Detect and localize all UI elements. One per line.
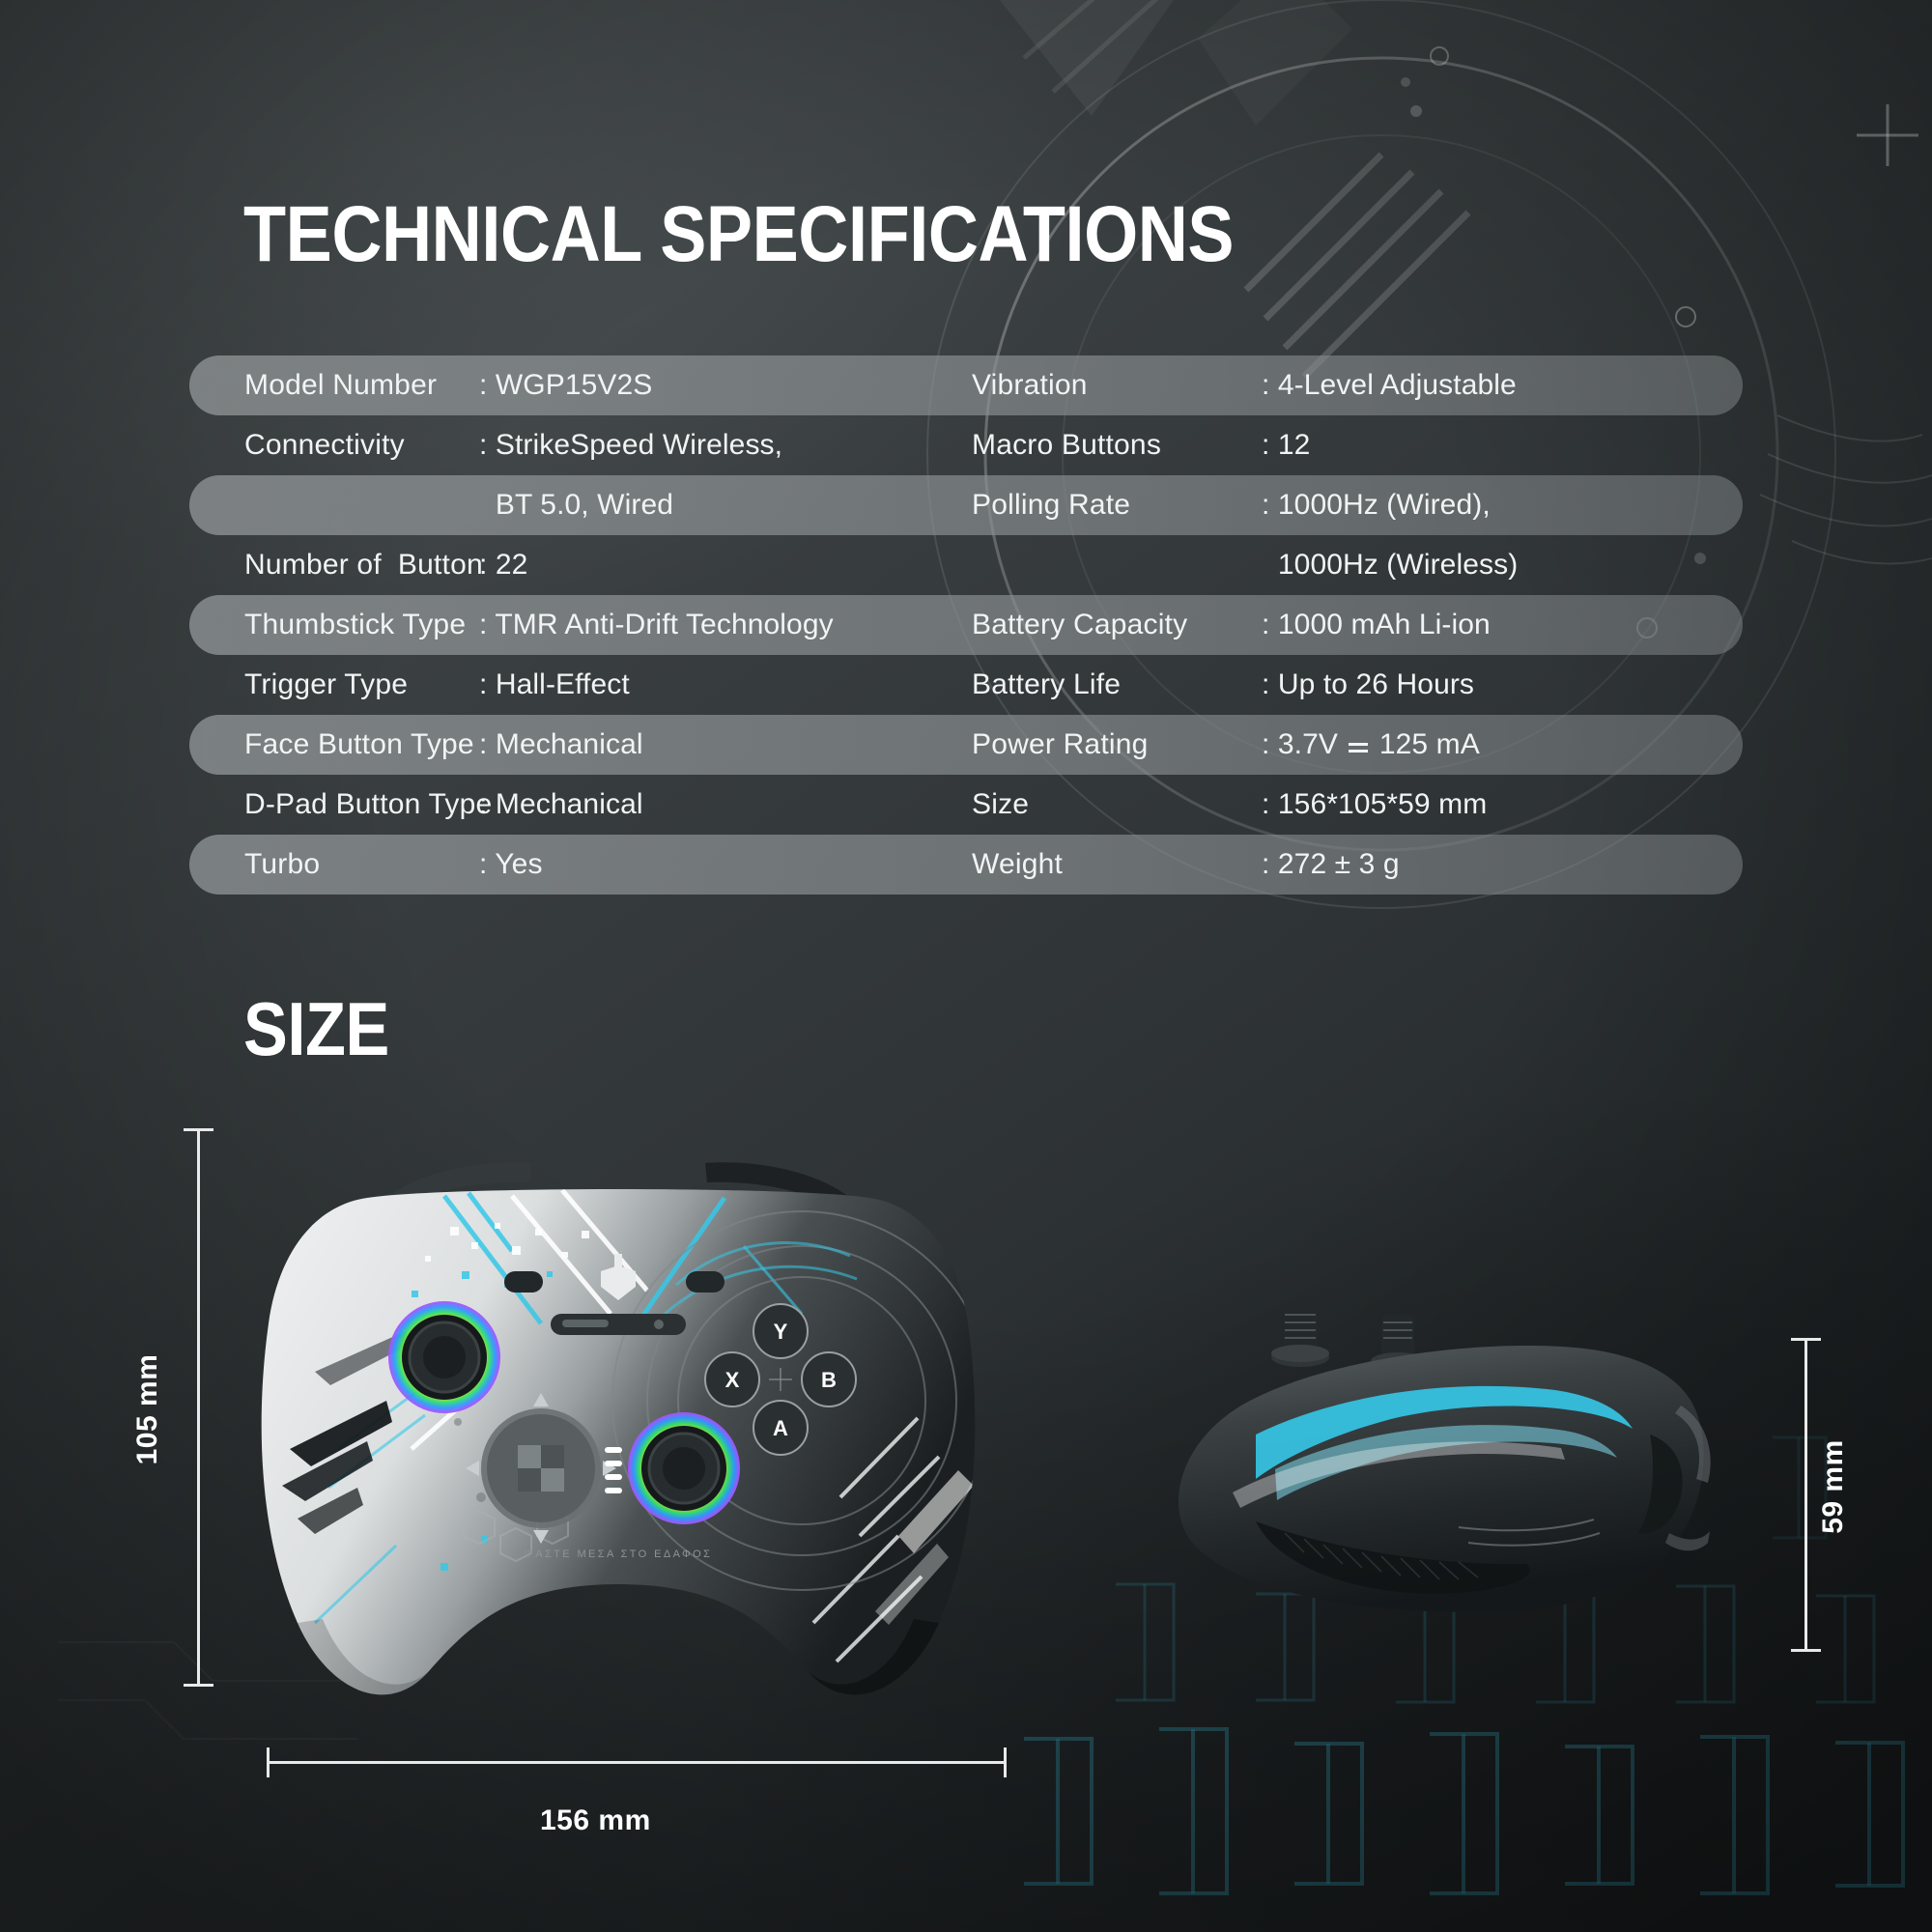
spec-value-right-text: : 1000Hz (Wired), xyxy=(1262,489,1491,522)
spec-label-left-text: Thumbstick Type xyxy=(244,609,466,641)
side-height-dimension-label: 59 mm xyxy=(1817,1429,1850,1545)
spec-label-right-text: Battery Capacity xyxy=(972,609,1187,641)
spec-label-left-text: Model Number xyxy=(244,369,437,402)
spec-value-left-text: BT 5.0, Wired xyxy=(479,489,673,522)
spec-label-right-text: Polling Rate xyxy=(972,489,1130,522)
table-row: Number of Button: 22 1000Hz (Wireless) xyxy=(189,535,1743,595)
spec-label-right-text: Macro Buttons xyxy=(972,429,1161,462)
spec-label-left-text: Turbo xyxy=(244,848,320,881)
spec-value-right-text-tail: 125 mA xyxy=(1371,728,1479,761)
height-dimension-line xyxy=(197,1128,200,1687)
side-height-dimension-line xyxy=(1804,1338,1807,1652)
spec-label-right: Weight xyxy=(972,835,1262,895)
spec-value-left: : StrikeSpeed Wireless, xyxy=(479,415,972,475)
spec-value-right: : 12 xyxy=(1262,415,1687,475)
table-row: Model Number: WGP15V2SVibration: 4-Level… xyxy=(189,355,1743,415)
svg-text:X: X xyxy=(725,1368,740,1392)
svg-text:A: A xyxy=(773,1416,788,1440)
spec-value-right-text: : 156*105*59 mm xyxy=(1262,788,1487,821)
table-row: Connectivity: StrikeSpeed Wireless,Macro… xyxy=(189,415,1743,475)
spec-label-left-text: Connectivity xyxy=(244,429,405,462)
specifications-table: Model Number: WGP15V2SVibration: 4-Level… xyxy=(189,355,1743,895)
spec-label-left: Number of Button xyxy=(189,535,479,595)
spec-value-left: : Hall-Effect xyxy=(479,655,972,715)
spec-label-left: Face Button Type xyxy=(189,715,479,775)
spec-value-right-text: : 12 xyxy=(1262,429,1310,462)
spec-label-right-text: Weight xyxy=(972,848,1063,881)
spec-value-right-text: : 3.7V xyxy=(1262,728,1346,761)
spec-value-right-text: : Up to 26 Hours xyxy=(1262,668,1474,701)
spec-label-left: Thumbstick Type xyxy=(189,595,479,655)
spec-label-left-text: Face Button Type xyxy=(244,728,474,761)
dc-power-icon xyxy=(1346,730,1371,759)
table-row: Trigger Type: Hall-EffectBattery Life: U… xyxy=(189,655,1743,715)
spec-value-left-text: : 22 xyxy=(479,549,527,582)
spec-value-right: : Up to 26 Hours xyxy=(1262,655,1687,715)
spec-label-left-text: Number of Button xyxy=(244,549,483,582)
page-title-technical-specifications: TECHNICAL SPECIFICATIONS xyxy=(243,189,1234,280)
height-dimension-cap-top xyxy=(184,1128,213,1131)
spec-label-left: Turbo xyxy=(189,835,479,895)
spec-label-left: Model Number xyxy=(189,355,479,415)
spec-label-right: Battery Life xyxy=(972,655,1262,715)
section-title-size: SIZE xyxy=(243,985,389,1073)
height-dimension-label: 105 mm xyxy=(131,1351,164,1467)
spec-value-right: : 272 ± 3 g xyxy=(1262,835,1687,895)
spec-value-left: : WGP15V2S xyxy=(479,355,972,415)
spec-label-right-text: Battery Life xyxy=(972,668,1121,701)
spec-value-right: : 1000Hz (Wired), xyxy=(1262,475,1687,535)
spec-value-right: : 156*105*59 mm xyxy=(1262,775,1687,835)
width-dimension-label: 156 mm xyxy=(540,1804,651,1837)
table-row: Thumbstick Type: TMR Anti-Drift Technolo… xyxy=(189,595,1743,655)
spec-label-right-text: Power Rating xyxy=(972,728,1149,761)
spec-label-right: Power Rating xyxy=(972,715,1262,775)
spec-label-left-text: D-Pad Button Type xyxy=(244,788,492,821)
spec-label-right: Vibration xyxy=(972,355,1262,415)
side-height-dimension-cap-bottom xyxy=(1791,1649,1821,1652)
spec-value-left: : 22 xyxy=(479,535,972,595)
svg-text:Y: Y xyxy=(774,1320,788,1344)
spec-value-left-text: : WGP15V2S xyxy=(479,369,652,402)
spec-value-left-text: : TMR Anti-Drift Technology xyxy=(479,609,834,641)
spec-label-right xyxy=(972,535,1262,595)
spec-label-left: D-Pad Button Type xyxy=(189,775,479,835)
spec-value-left: BT 5.0, Wired xyxy=(479,475,972,535)
spec-label-left xyxy=(189,475,479,535)
spec-label-right: Macro Buttons xyxy=(972,415,1262,475)
spec-value-left-text: : Mechanical xyxy=(479,788,643,821)
spec-value-left: : Mechanical xyxy=(479,715,972,775)
spec-value-left-text: : Mechanical xyxy=(479,728,643,761)
svg-text:B: B xyxy=(821,1368,837,1392)
spec-label-right-text: Vibration xyxy=(972,369,1088,402)
spec-value-right-text: : 1000 mAh Li-ion xyxy=(1262,609,1491,641)
spec-label-right: Size xyxy=(972,775,1262,835)
spec-label-left: Trigger Type xyxy=(189,655,479,715)
spec-value-left: : Yes xyxy=(479,835,972,895)
table-row: Turbo: YesWeight: 272 ± 3 g xyxy=(189,835,1743,895)
spec-value-right: : 3.7V 125 mA xyxy=(1262,715,1687,775)
spec-value-left-text: : Yes xyxy=(479,848,543,881)
spec-label-right: Battery Capacity xyxy=(972,595,1262,655)
side-height-dimension-cap-top xyxy=(1791,1338,1821,1341)
spec-value-left-text: : StrikeSpeed Wireless, xyxy=(479,429,782,462)
width-dimension-line xyxy=(267,1761,1007,1764)
spec-value-right: : 1000 mAh Li-ion xyxy=(1262,595,1687,655)
spec-value-right: : 4-Level Adjustable xyxy=(1262,355,1687,415)
spec-value-left: : Mechanical xyxy=(479,775,972,835)
controller-side-view xyxy=(1140,1290,1758,1695)
spec-value-right-text: : 4-Level Adjustable xyxy=(1262,369,1517,402)
table-row: Face Button Type: MechanicalPower Rating… xyxy=(189,715,1743,775)
height-dimension-cap-bottom xyxy=(184,1684,213,1687)
spec-label-left: Connectivity xyxy=(189,415,479,475)
spec-label-right-text: Size xyxy=(972,788,1029,821)
table-row: D-Pad Button Type: MechanicalSize: 156*1… xyxy=(189,775,1743,835)
spec-value-left: : TMR Anti-Drift Technology xyxy=(479,595,972,655)
table-row: BT 5.0, WiredPolling Rate: 1000Hz (Wired… xyxy=(189,475,1743,535)
controller-front-view: Y X B A ΨΑΣΤΕ ΜΕΣΑ ΣΤΟ ΕΔΑΦΟΣ xyxy=(222,1082,1014,1758)
spec-label-right: Polling Rate xyxy=(972,475,1262,535)
controller-body-text: ΨΑΣΤΕ ΜΕΣΑ ΣΤΟ ΕΔΑΦΟΣ xyxy=(525,1548,713,1560)
size-section: 105 mm 156 mm 59 mm xyxy=(0,1072,1932,1932)
spec-value-right-text: 1000Hz (Wireless) xyxy=(1262,549,1518,582)
spec-label-left-text: Trigger Type xyxy=(244,668,408,701)
spec-value-right: 1000Hz (Wireless) xyxy=(1262,535,1687,595)
spec-value-left-text: : Hall-Effect xyxy=(479,668,630,701)
spec-value-right-text: : 272 ± 3 g xyxy=(1262,848,1400,881)
